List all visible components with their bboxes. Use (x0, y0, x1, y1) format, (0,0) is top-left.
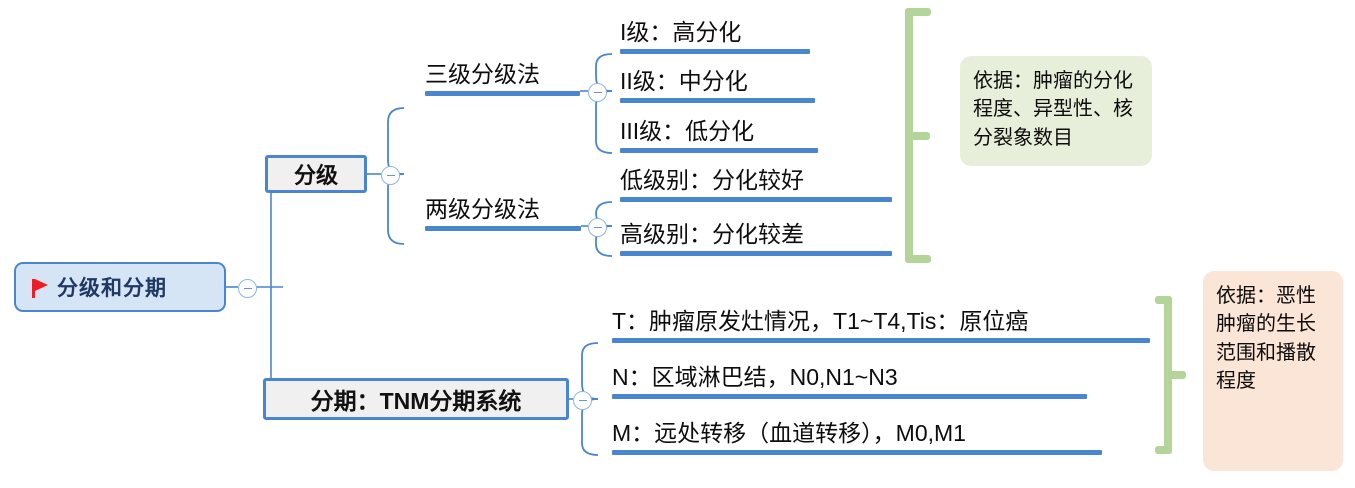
node-grade-1-label: I级：高分化 (620, 13, 741, 47)
root-node[interactable]: 分级和分期 (14, 262, 226, 312)
node-tnm-m[interactable]: M：远处转移（血道转移），M0,M1 (612, 421, 1102, 455)
node-grade-2-underline (620, 98, 815, 103)
node-grade-3-underline (620, 148, 818, 153)
node-staging[interactable]: 分期：TNM分期系统 (263, 378, 569, 420)
red-flag-icon (32, 276, 48, 298)
node-two-tier[interactable]: 两级分级法 (425, 197, 581, 231)
node-staging-label: 分期：TNM分期系统 (311, 382, 522, 416)
node-grading[interactable]: 分级 (265, 155, 367, 193)
staging-toggle[interactable] (573, 391, 592, 410)
node-low-grade[interactable]: 低级别：分化较好 (620, 168, 892, 202)
root-node-label: 分级和分期 (57, 272, 167, 302)
node-grading-label: 分级 (294, 158, 338, 190)
node-high-grade-label: 高级别：分化较差 (620, 215, 804, 249)
node-tnm-m-underline (612, 450, 1102, 455)
node-grade-3-label: III级：低分化 (620, 112, 754, 146)
node-three-tier[interactable]: 三级分级法 (425, 62, 580, 96)
mindmap-canvas: 分级和分期 分级 三级分级法 I级：高分化 II级：中分化 III级：低分化 两… (0, 0, 1355, 488)
node-two-tier-underline (425, 226, 581, 231)
grading-basis-bracket (896, 8, 930, 263)
annotation-grading-basis-text: 依据：肿瘤的分化程度、异型性、核分裂象数目 (973, 67, 1139, 152)
grading-toggle[interactable] (381, 166, 400, 185)
annotation-staging-basis-text: 依据：恶性肿瘤的生长范围和播散程度 (1216, 282, 1330, 396)
two-tier-toggle[interactable] (588, 218, 607, 237)
node-tnm-m-label: M：远处转移（血道转移），M0,M1 (612, 414, 966, 448)
node-grade-3[interactable]: III级：低分化 (620, 119, 818, 153)
annotation-grading-basis: 依据：肿瘤的分化程度、异型性、核分裂象数目 (960, 56, 1152, 166)
node-grade-2-label: II级：中分化 (620, 62, 748, 96)
node-grade-1-underline (620, 49, 810, 54)
root-toggle[interactable] (238, 279, 257, 298)
node-tnm-n-underline (612, 394, 1087, 399)
node-three-tier-label: 三级分级法 (425, 55, 540, 89)
node-tnm-n[interactable]: N：区域淋巴结，N0,N1~N3 (612, 365, 1087, 399)
node-high-grade-underline (620, 251, 892, 256)
node-grade-2[interactable]: II级：中分化 (620, 69, 815, 103)
node-tnm-n-label: N：区域淋巴结，N0,N1~N3 (612, 358, 898, 392)
staging-basis-bracket (1155, 296, 1187, 454)
node-grade-1[interactable]: I级：高分化 (620, 20, 810, 54)
node-three-tier-underline (425, 91, 580, 96)
three-tier-toggle[interactable] (588, 83, 607, 102)
node-two-tier-label: 两级分级法 (425, 190, 540, 224)
node-high-grade[interactable]: 高级别：分化较差 (620, 222, 892, 256)
node-tnm-t-underline (612, 338, 1150, 343)
annotation-staging-basis: 依据：恶性肿瘤的生长范围和播散程度 (1203, 271, 1343, 471)
node-low-grade-underline (620, 197, 892, 202)
node-tnm-t[interactable]: T：肿瘤原发灶情况，T1~T4,Tis：原位癌 (612, 309, 1150, 343)
node-tnm-t-label: T：肿瘤原发灶情况，T1~T4,Tis：原位癌 (612, 302, 1028, 336)
node-low-grade-label: 低级别：分化较好 (620, 161, 804, 195)
